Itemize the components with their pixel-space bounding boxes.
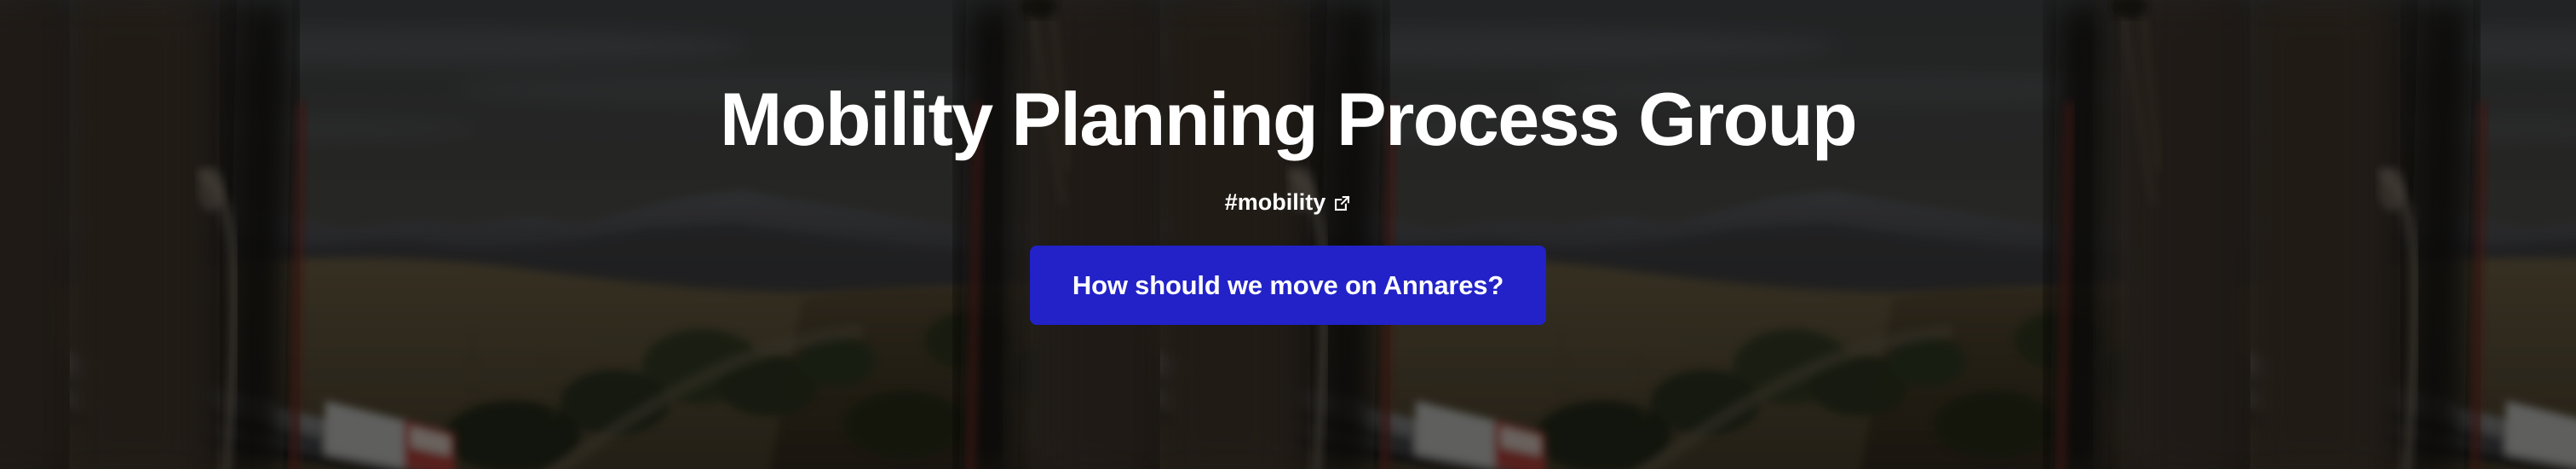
hashtag-link[interactable]: #mobility [1225, 191, 1352, 214]
hashtag-label: #mobility [1225, 191, 1326, 214]
cta-button[interactable]: How should we move on Annares? [1030, 246, 1546, 325]
external-link-icon [1333, 194, 1351, 212]
hero-banner: Mobility Planning Process Group #mobilit… [0, 0, 2576, 469]
page-title: Mobility Planning Process Group [720, 82, 1856, 157]
hero-content: Mobility Planning Process Group #mobilit… [0, 0, 2576, 469]
